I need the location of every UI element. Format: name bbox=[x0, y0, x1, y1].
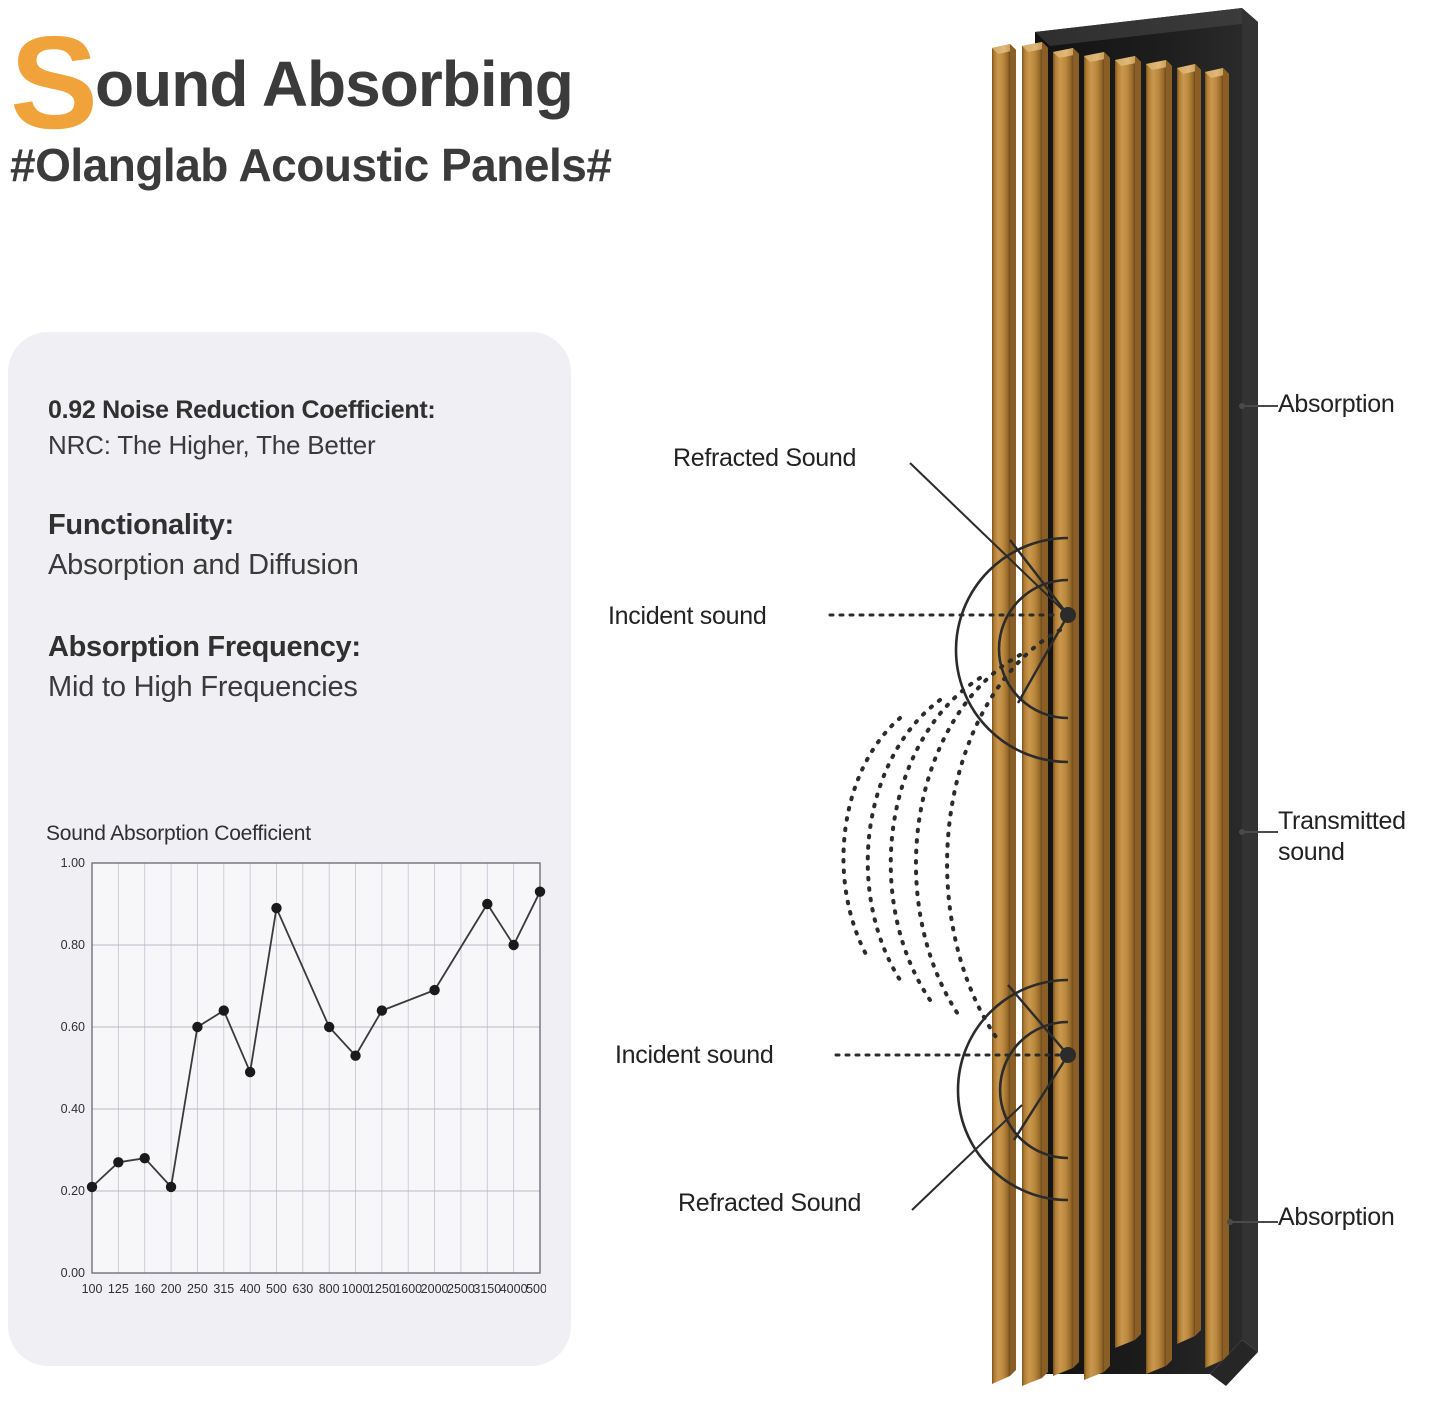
label-incident-sound-top: Incident sound bbox=[608, 602, 766, 631]
chart-xtick-label: 4000 bbox=[500, 1282, 528, 1296]
spec-item-functionality: Functionality: Absorption and Diffusion bbox=[48, 507, 538, 585]
chart-ytick-label: 0.00 bbox=[61, 1266, 85, 1280]
specs-card: 0.92 Noise Reduction Coefficient: NRC: T… bbox=[8, 332, 571, 1366]
chart-xtick-label: 125 bbox=[108, 1282, 129, 1296]
chart-data-point bbox=[245, 1067, 255, 1077]
chart-ytick-label: 0.40 bbox=[61, 1102, 85, 1116]
diffusion-arc-3 bbox=[891, 678, 980, 1000]
chart-data-point bbox=[166, 1182, 176, 1192]
chart-svg: 0.000.200.400.600.801.001001251602002503… bbox=[46, 855, 546, 1323]
chart-xtick-label: 500 bbox=[266, 1282, 287, 1296]
chart-ytick-label: 0.20 bbox=[61, 1184, 85, 1198]
chart-xtick-label: 800 bbox=[319, 1282, 340, 1296]
chart-xtick-label: 200 bbox=[161, 1282, 182, 1296]
label-refracted-sound-top: Refracted Sound bbox=[673, 444, 856, 473]
spec-heading-functionality: Functionality: bbox=[48, 507, 538, 544]
label-transmitted-sound-line1: Transmitted bbox=[1278, 806, 1406, 837]
spec-value-nrc: NRC: The Higher, The Better bbox=[48, 429, 538, 463]
chart-xtick-label: 400 bbox=[240, 1282, 261, 1296]
chart-xtick-label: 100 bbox=[82, 1282, 103, 1296]
chart-data-point bbox=[192, 1022, 202, 1032]
chart-xtick-label: 1000 bbox=[342, 1282, 370, 1296]
title-rest: ound Absorbing bbox=[95, 48, 573, 120]
infographic-root: Sound Absorbing #Olanglab Acoustic Panel… bbox=[0, 0, 1445, 1407]
specs-list: 0.92 Noise Reduction Coefficient: NRC: T… bbox=[48, 394, 538, 706]
chart-title: Sound Absorption Coefficient bbox=[46, 822, 546, 846]
chart-data-point bbox=[219, 1005, 229, 1015]
label-absorption-bottom: Absorption bbox=[1278, 1203, 1395, 1232]
spec-value-frequency: Mid to High Frequencies bbox=[48, 669, 538, 707]
page-title: Sound Absorbing bbox=[10, 30, 611, 136]
spec-item-nrc: 0.92 Noise Reduction Coefficient: NRC: T… bbox=[48, 394, 538, 463]
chart-ytick-label: 0.80 bbox=[61, 938, 85, 952]
leader-dot-transmitted bbox=[1239, 829, 1245, 835]
chart-xtick-label: 250 bbox=[187, 1282, 208, 1296]
chart-xtick-label: 5000 bbox=[526, 1282, 546, 1296]
chart-data-point bbox=[508, 940, 518, 950]
label-transmitted-sound-line2: sound bbox=[1278, 837, 1406, 868]
chart-xtick-label: 315 bbox=[213, 1282, 234, 1296]
label-refracted-sound-bottom: Refracted Sound bbox=[678, 1189, 861, 1218]
chart-data-point bbox=[350, 1051, 360, 1061]
chart-data-point bbox=[429, 985, 439, 995]
chart-ytick-label: 1.00 bbox=[61, 856, 85, 870]
slat-3 bbox=[1053, 48, 1079, 1376]
chart-xtick-label: 630 bbox=[292, 1282, 313, 1296]
chart-data-point bbox=[113, 1157, 123, 1167]
chart-data-point bbox=[140, 1153, 150, 1163]
chart-xtick-label: 2500 bbox=[447, 1282, 475, 1296]
absorption-chart: Sound Absorption Coefficient 0.000.200.4… bbox=[46, 822, 546, 1323]
slat-5 bbox=[1115, 56, 1141, 1348]
slat-7 bbox=[1177, 64, 1201, 1344]
chart-plot-bg bbox=[92, 863, 540, 1273]
chart-data-point bbox=[87, 1182, 97, 1192]
chart-xtick-label: 1600 bbox=[394, 1282, 422, 1296]
chart-plot-area: 0.000.200.400.600.801.001001251602002503… bbox=[46, 855, 546, 1323]
slat-4 bbox=[1084, 52, 1110, 1380]
title-drop-cap: S bbox=[10, 9, 95, 156]
chart-data-point bbox=[377, 1005, 387, 1015]
spec-heading-nrc: 0.92 Noise Reduction Coefficient: bbox=[48, 394, 538, 426]
spec-heading-frequency: Absorption Frequency: bbox=[48, 629, 538, 666]
slat-6 bbox=[1146, 60, 1172, 1374]
page-subtitle: #Olanglab Acoustic Panels# bbox=[10, 138, 611, 192]
headline-block: Sound Absorbing #Olanglab Acoustic Panel… bbox=[10, 30, 611, 192]
spec-value-functionality: Absorption and Diffusion bbox=[48, 547, 538, 585]
chart-data-point bbox=[324, 1022, 334, 1032]
chart-data-point bbox=[535, 887, 545, 897]
chart-xtick-label: 2000 bbox=[421, 1282, 449, 1296]
label-absorption-top: Absorption bbox=[1278, 390, 1395, 419]
spec-item-frequency: Absorption Frequency: Mid to High Freque… bbox=[48, 629, 538, 707]
leader-dot-absorption-bottom bbox=[1227, 1219, 1233, 1225]
chart-xtick-label: 1250 bbox=[368, 1282, 396, 1296]
chart-ytick-label: 0.60 bbox=[61, 1020, 85, 1034]
slat-8 bbox=[1205, 68, 1229, 1368]
label-incident-sound-bottom: Incident sound bbox=[615, 1041, 773, 1070]
chart-data-point bbox=[271, 903, 281, 913]
chart-xtick-label: 3150 bbox=[473, 1282, 501, 1296]
slat-1 bbox=[992, 44, 1016, 1384]
leader-dot-absorption-top bbox=[1239, 403, 1245, 409]
chart-data-point bbox=[482, 899, 492, 909]
label-transmitted-sound: Transmitted sound bbox=[1278, 806, 1406, 867]
chart-xtick-label: 160 bbox=[134, 1282, 155, 1296]
